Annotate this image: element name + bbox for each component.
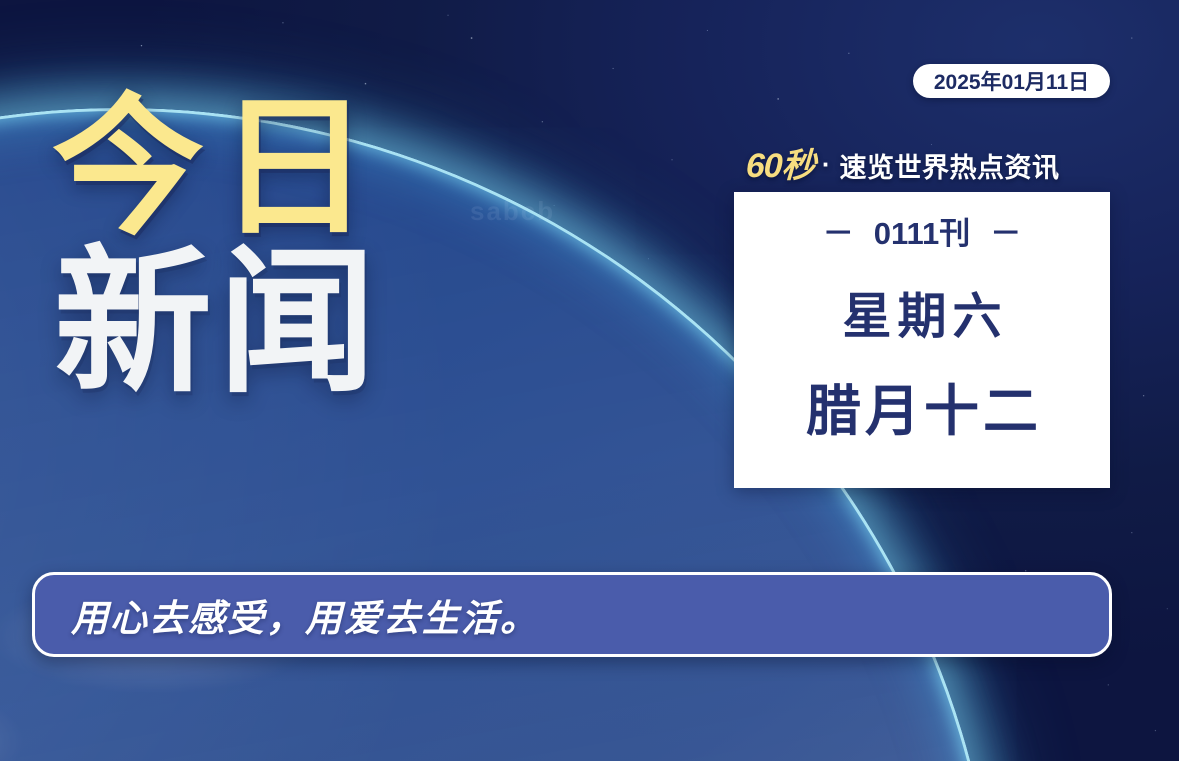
page-title-line-1: 今日 — [52, 96, 472, 242]
watermark-text: sabcb — [470, 196, 555, 227]
news-poster: sabcb 2025年01月11日 60秒 · 速览世界热点资讯 今日 新闻 －… — [0, 0, 1179, 761]
page-title-line-2: 新闻 — [54, 248, 472, 400]
tagline-highlight: 60秒 — [745, 138, 816, 187]
page-title: 今日 新闻 — [52, 96, 472, 400]
issue-dash-right: － — [990, 208, 1021, 253]
tagline-separator: · — [822, 149, 831, 180]
issue-number: 0111刊 — [874, 208, 971, 253]
issue-line: － 0111刊 － — [823, 208, 1022, 253]
tagline: 60秒 · 速览世界热点资讯 — [746, 138, 1060, 187]
issue-dash-left: － — [823, 208, 854, 253]
footer-banner: 用心去感受，用爱去生活。 — [32, 572, 1112, 657]
footer-slogan: 用心去感受，用爱去生活。 — [71, 588, 539, 642]
info-card: － 0111刊 － 星期六 腊月十二 — [734, 192, 1110, 488]
lunar-date-label: 腊月十二 — [802, 366, 1042, 446]
weekday-label: 星期六 — [836, 277, 1007, 348]
date-badge: 2025年01月11日 — [913, 64, 1110, 98]
tagline-rest: 速览世界热点资讯 — [840, 146, 1060, 185]
